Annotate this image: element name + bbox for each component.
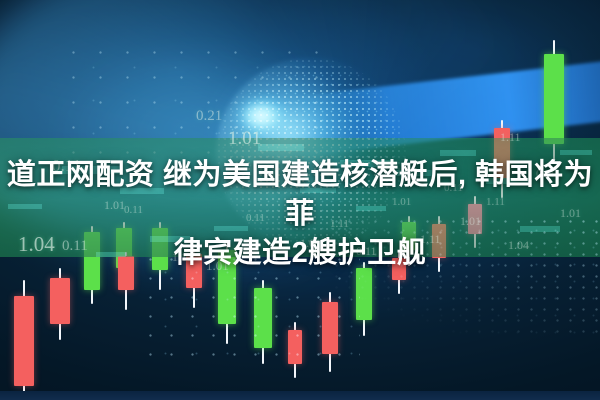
sphere-core-light	[232, 94, 290, 138]
bottom-strip	[0, 391, 600, 400]
candlestick	[50, 268, 70, 340]
candle-body	[14, 296, 34, 386]
data-bar	[258, 144, 304, 151]
headline-line-1: 道正网配资 继为美国建造核潜艇后, 韩国将为菲	[0, 156, 600, 234]
data-bar	[560, 150, 592, 155]
headline-line-2: 律宾建造2艘护卫舰	[0, 234, 600, 273]
candle-body	[50, 278, 70, 324]
candle-body	[544, 54, 564, 144]
news-banner-image: 0.110.211.011.111.040.111.010.111.111.01…	[0, 0, 600, 400]
candlestick	[14, 280, 34, 400]
headline: 道正网配资 继为美国建造核潜艇后, 韩国将为菲 律宾建造2艘护卫舰	[0, 156, 600, 273]
